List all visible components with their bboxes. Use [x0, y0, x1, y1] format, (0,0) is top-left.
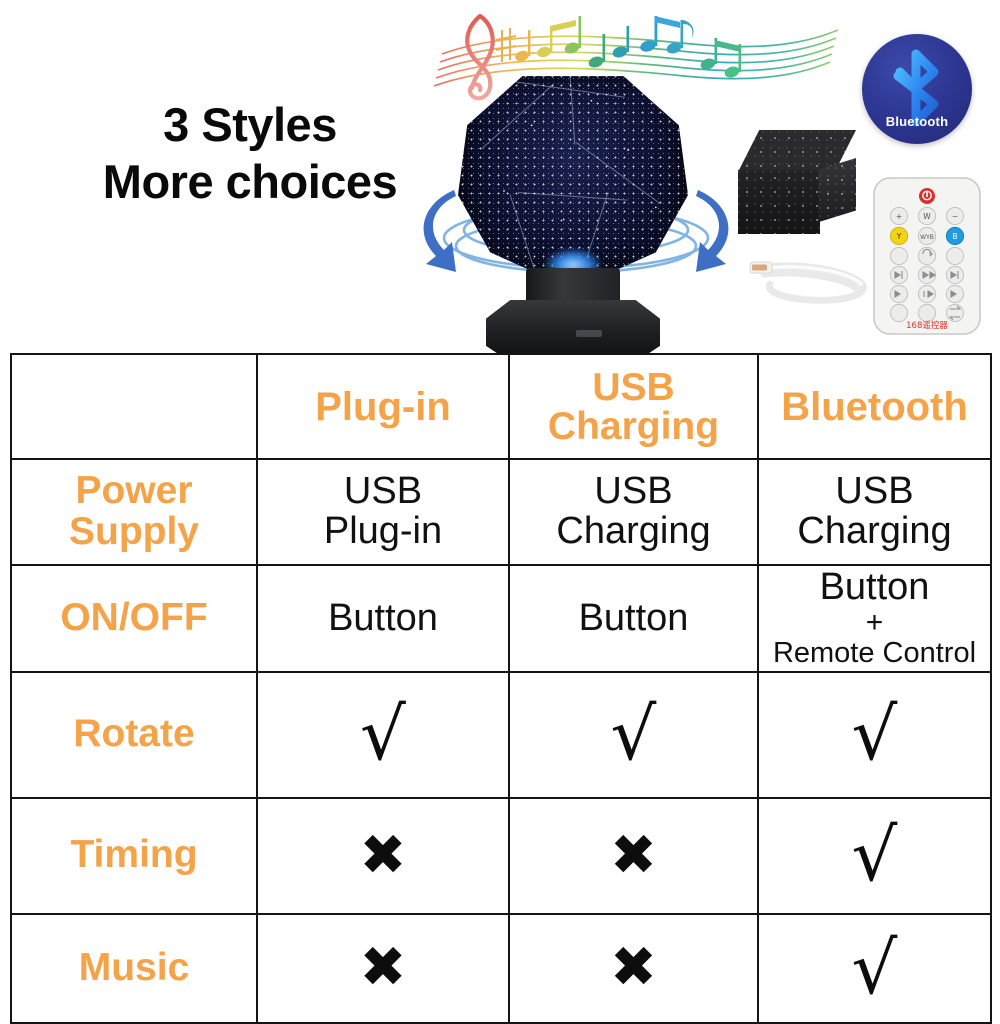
svg-text:W: W: [923, 212, 931, 221]
header-cell-usb-charging: USB Charging: [509, 354, 758, 459]
cell-timing-usb-charging: ✖: [509, 798, 758, 914]
header-usb-line2: Charging: [514, 407, 753, 446]
cross-mark-icon: ✖: [610, 831, 657, 881]
check-mark-icon: √: [611, 705, 657, 764]
header-cell-empty: [11, 354, 257, 459]
row-label-timing: Timing: [11, 798, 257, 914]
remote-model-label: 168遥控器: [906, 320, 948, 331]
bluetooth-badge: Bluetooth: [862, 34, 972, 144]
constellation-gift-box: [738, 130, 856, 240]
remote-control: + W − Y WYB B 168遥控器: [868, 176, 986, 336]
header-usb-line1: USB: [514, 368, 753, 407]
cell-timing-bluetooth: √: [758, 798, 991, 914]
lamp-usb-port: [576, 330, 602, 337]
table-row: Music ✖ ✖ √: [11, 914, 991, 1023]
page-title: 3 Styles More choices: [40, 96, 460, 211]
lamp-dodecahedron-body: [458, 72, 688, 277]
row-label-rotate: Rotate: [11, 672, 257, 798]
cell-music-usb-charging: ✖: [509, 914, 758, 1023]
cell-power-supply-usb-charging: USB Charging: [509, 459, 758, 565]
cell-music-bluetooth: √: [758, 914, 991, 1023]
check-mark-icon: √: [852, 939, 898, 998]
hero-banner: 3 Styles More choices: [0, 0, 1000, 353]
svg-text:Y: Y: [896, 232, 902, 241]
svg-text:B: B: [952, 232, 957, 241]
cross-mark-icon: ✖: [610, 943, 657, 993]
cell-power-supply-plug-in: USB Plug-in: [257, 459, 509, 565]
header-cell-bluetooth: Bluetooth: [758, 354, 991, 459]
usb-cable: [744, 248, 876, 314]
row-label-line-2: Supply: [16, 512, 252, 553]
cell-timing-plug-in: ✖: [257, 798, 509, 914]
check-mark-icon: √: [360, 705, 406, 764]
cell-music-plug-in: ✖: [257, 914, 509, 1023]
table-header-row: Plug-in USB Charging Bluetooth: [11, 354, 991, 459]
table-row: Rotate √ √ √: [11, 672, 991, 798]
lamp-starfield-texture: [458, 72, 688, 277]
cell-on-off-bluetooth: Button + Remote Control: [758, 565, 991, 672]
table-row: ON/OFF Button Button Button + Remote Con…: [11, 565, 991, 672]
check-mark-icon: √: [852, 705, 898, 764]
star-projector-lamp: [448, 72, 698, 357]
cell-rotate-bluetooth: √: [758, 672, 991, 798]
gift-box-front: [738, 170, 820, 234]
cell-on-off-plug-in: Button: [257, 565, 509, 672]
headline-line-1: 3 Styles: [40, 96, 460, 153]
cell-on-off-usb-charging: Button: [509, 565, 758, 672]
comparison-table: Plug-in USB Charging Bluetooth Power Sup…: [10, 353, 992, 1024]
cell-rotate-usb-charging: √: [509, 672, 758, 798]
svg-text:−: −: [952, 212, 958, 221]
table-row: Timing ✖ ✖ √: [11, 798, 991, 914]
row-label-music: Music: [11, 914, 257, 1023]
cell-power-supply-bluetooth: USB Charging: [758, 459, 991, 565]
table-row: Power Supply USB Plug-in USB Charging US…: [11, 459, 991, 565]
cross-mark-icon: ✖: [360, 943, 407, 993]
cross-mark-icon: ✖: [360, 831, 407, 881]
cell-rotate-plug-in: √: [257, 672, 509, 798]
check-mark-icon: √: [852, 826, 898, 885]
bluetooth-badge-label: Bluetooth: [862, 114, 972, 129]
row-label-power-supply: Power Supply: [11, 459, 257, 565]
header-cell-plug-in: Plug-in: [257, 354, 509, 459]
svg-text:WYB: WYB: [920, 234, 934, 241]
row-label-line-1: Power: [16, 471, 252, 512]
row-label-on-off: ON/OFF: [11, 565, 257, 672]
svg-text:+: +: [896, 212, 902, 221]
headline-line-2: More choices: [40, 153, 460, 210]
